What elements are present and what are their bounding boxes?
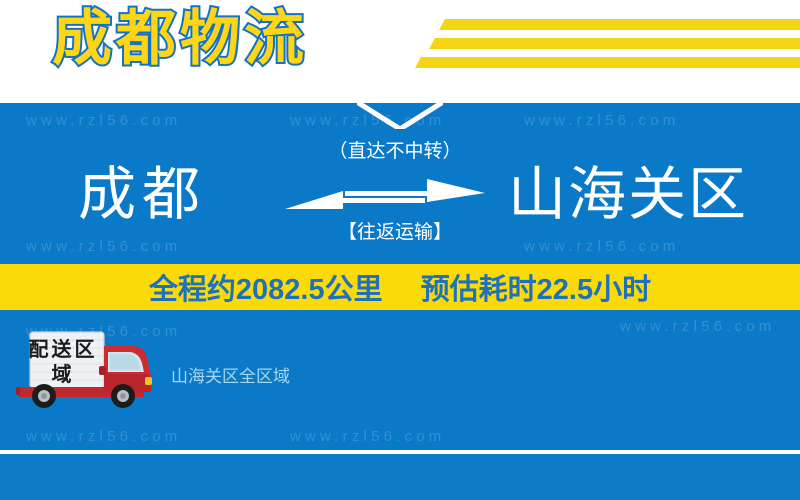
page-title: 成都物流 — [52, 3, 308, 75]
delivery-scope-text: 山海关区全区域 — [171, 367, 290, 387]
watermark: www.rzl56.com — [26, 238, 181, 255]
decorative-stripe-1 — [439, 19, 800, 30]
route-note-bottom: 【往返运输】 — [300, 222, 490, 244]
decorative-stripe-2 — [429, 38, 800, 49]
watermark: www.rzl56.com — [620, 318, 775, 335]
watermark: www.rzl56.com — [524, 112, 679, 129]
decorative-stripe-3 — [415, 57, 800, 68]
stats-bar: 全程约2082.5公里 预估耗时22.5小时 — [0, 264, 800, 310]
watermark: www.rzl56.com — [26, 428, 181, 445]
logistics-banner: 成都物流 成都 （直达不中转） 【往返运输】 山海关区 全程约2082.5公里 … — [0, 0, 800, 500]
watermark: www.rzl56.com — [524, 238, 679, 255]
route-origin: 成都 — [78, 165, 206, 225]
banner-header: 成都物流 — [0, 0, 800, 100]
chevron-down-icon — [357, 99, 443, 129]
watermark: www.rzl56.com — [290, 428, 445, 445]
truck-box-label: 配送区域 — [22, 338, 104, 388]
route-note-top: （直达不中转） — [300, 141, 490, 163]
stat-duration: 预估耗时22.5小时 — [421, 266, 651, 308]
watermark: www.rzl56.com — [26, 112, 181, 129]
stat-distance: 全程约2082.5公里 — [149, 266, 383, 308]
double-arrow-horizontal-icon — [285, 178, 485, 212]
route-destination: 山海关区 — [508, 165, 748, 225]
banner-footer: 公司地址：四川省成都市新都区三河场元贞国际 — [0, 454, 800, 500]
